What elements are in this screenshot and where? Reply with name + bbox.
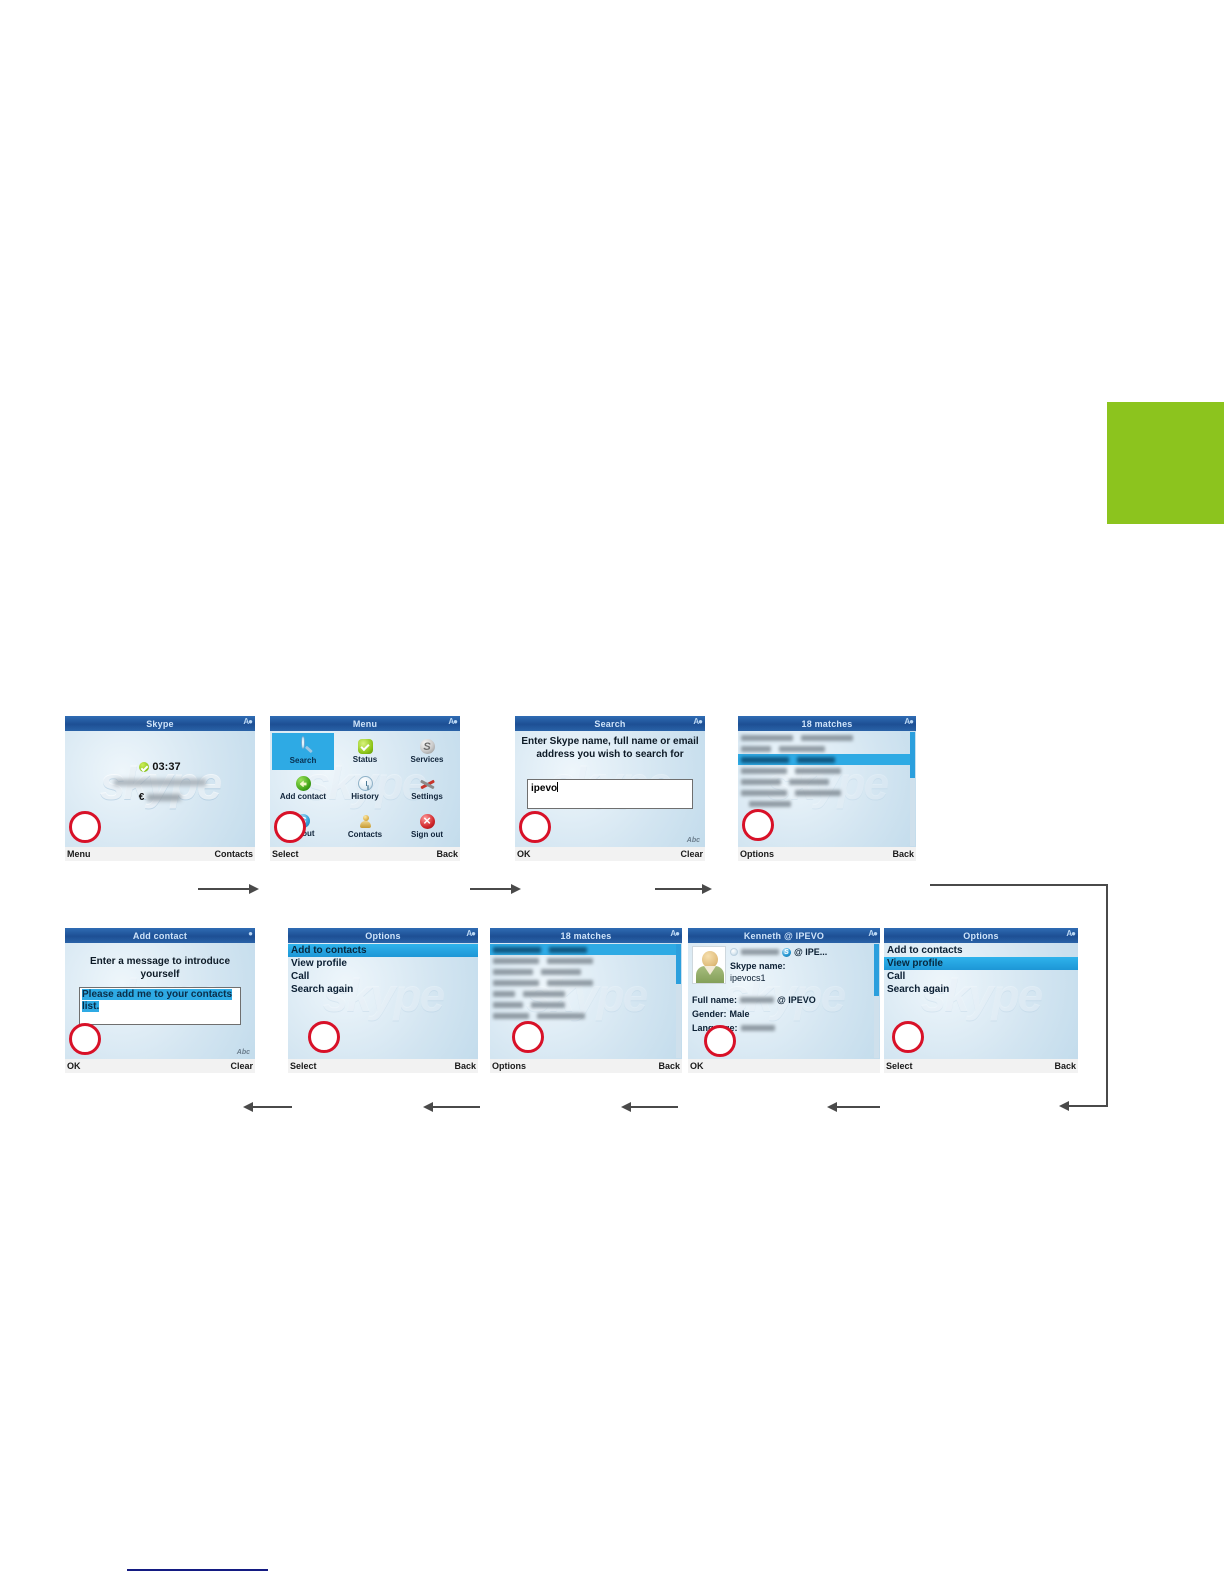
loop-connector-arrow: [1068, 1105, 1108, 1107]
screen-search: Search A● skype Enter Skype name, full n…: [515, 716, 705, 861]
titlebar: Options A●: [288, 928, 478, 943]
scrollbar-thumb[interactable]: [910, 732, 915, 778]
username-redacted: [114, 779, 206, 786]
list-item[interactable]: [490, 977, 676, 988]
list-item[interactable]: [738, 765, 910, 776]
language-redacted: [741, 1025, 775, 1031]
annotation-marker-1: [69, 811, 101, 843]
softkey-right-back[interactable]: Back: [436, 849, 458, 859]
list-item[interactable]: [738, 787, 910, 798]
softkey-right-clear[interactable]: Clear: [230, 1061, 253, 1071]
search-input[interactable]: ipevo: [527, 779, 693, 809]
titlebar: Add contact ●: [65, 928, 255, 943]
softkey-bar: OK Clear: [65, 1059, 255, 1073]
scrollbar-thumb[interactable]: [676, 944, 681, 984]
softkey-bar: OK Clear: [515, 847, 705, 861]
softkey-left-ok[interactable]: OK: [67, 1061, 81, 1071]
gender-value: Male: [730, 1009, 750, 1019]
add-contact-prompt: Enter a message to introduce yourself: [71, 955, 249, 981]
softkey-left-ok[interactable]: OK: [690, 1061, 704, 1071]
option-label: Call: [291, 971, 309, 982]
annotation-marker-8: [69, 1023, 101, 1055]
flow-arrow-forward-2: [470, 888, 512, 890]
annotation-marker-2: [274, 811, 306, 843]
services-icon: S: [420, 739, 435, 754]
screen-body: skype 03:37 €: [65, 731, 255, 847]
softkey-bar: Select Back: [884, 1059, 1078, 1073]
screen-body: skype Enter a message to introduce yours…: [65, 943, 255, 1059]
softkey-left-ok[interactable]: OK: [517, 849, 531, 859]
screen-options-view: Options A● skype Add to contacts View pr…: [884, 928, 1078, 1073]
option-view-profile[interactable]: View profile: [288, 957, 478, 970]
menu-item-status[interactable]: Status: [334, 733, 396, 770]
screen-matches-2: 18 matches A● skype Options Back: [490, 928, 682, 1073]
message-input[interactable]: Please add me to your contacts list.: [79, 987, 241, 1025]
screen-title: Kenneth @ IPEVO: [744, 931, 824, 941]
option-label: Add to contacts: [887, 945, 963, 956]
home-status-block: 03:37 €: [65, 761, 255, 803]
display-name-redacted: [741, 949, 779, 955]
profile-display-name-row: S @ IPE...: [730, 947, 876, 957]
annotation-marker-9: [892, 1021, 924, 1053]
screen-title: Search: [594, 719, 625, 729]
screen-body: skype Add to contacts View profile Call …: [884, 943, 1078, 1059]
footnote-separator: [127, 1569, 268, 1571]
search-input-value: ipevo: [531, 783, 557, 794]
loop-connector-top: [930, 884, 1108, 886]
softkey-right-back[interactable]: Back: [658, 1061, 680, 1071]
screen-body: skype Search Status S Services Add conta…: [270, 731, 460, 847]
gender-label: Gender:: [692, 1009, 727, 1019]
list-item[interactable]: [490, 966, 676, 977]
softkey-right-clear[interactable]: Clear: [680, 849, 703, 859]
menu-item-contacts[interactable]: Contacts: [334, 808, 396, 845]
option-label: Search again: [291, 984, 353, 995]
loop-connector-right: [1106, 884, 1108, 1106]
contacts-icon: [358, 814, 373, 829]
sign-out-icon: [420, 814, 435, 829]
titlebar: Search A●: [515, 716, 705, 731]
menu-item-add-contact[interactable]: Add contact: [272, 770, 334, 807]
status-icon: [358, 739, 373, 754]
flow-arrow-forward-3: [655, 888, 703, 890]
softkey-right-back[interactable]: Back: [454, 1061, 476, 1071]
credit-amount-redacted: [147, 794, 181, 801]
display-name-suffix: @ IPE...: [794, 947, 827, 957]
menu-item-search[interactable]: Search: [272, 733, 334, 770]
screen-body: skype: [490, 943, 682, 1059]
add-contact-icon: [296, 776, 311, 791]
options-list[interactable]: Add to contacts View profile Call Search…: [288, 944, 478, 996]
font-size-icon: A●: [243, 717, 252, 726]
menu-item-history[interactable]: History: [334, 770, 396, 807]
list-item[interactable]: [738, 798, 910, 809]
scrollbar-thumb[interactable]: [874, 944, 879, 996]
status-row: 03:37: [139, 761, 180, 773]
menu-item-settings[interactable]: Settings: [396, 770, 458, 807]
annotation-marker-5: [704, 1025, 736, 1057]
list-item[interactable]: [490, 988, 676, 999]
page-accent-block: [1107, 402, 1224, 524]
option-call[interactable]: Call: [288, 970, 478, 983]
list-item[interactable]: [738, 776, 910, 787]
font-size-icon: A●: [448, 717, 457, 726]
annotation-marker-3: [519, 811, 551, 843]
screen-add-contact-message: Add contact ● skype Enter a message to i…: [65, 928, 255, 1073]
menu-item-label: Services: [411, 755, 444, 764]
softkey-left-options[interactable]: Options: [740, 849, 774, 859]
menu-item-sign-out[interactable]: Sign out: [396, 808, 458, 845]
menu-item-label: History: [351, 792, 379, 801]
text-caret: [557, 782, 558, 792]
list-item[interactable]: [738, 732, 910, 743]
option-search-again[interactable]: Search again: [884, 983, 1078, 996]
screen-matches-1: 18 matches A● skype Options Back: [738, 716, 916, 861]
message-input-value: Please add me to your contacts list.: [82, 989, 232, 1012]
font-size-icon: A●: [466, 929, 475, 938]
options-list[interactable]: Add to contacts View profile Call Search…: [884, 944, 1078, 996]
history-icon: [358, 776, 373, 791]
option-add-to-contacts[interactable]: Add to contacts: [884, 944, 1078, 957]
flow-arrow-back-4: [836, 1106, 880, 1108]
font-size-icon: A●: [670, 929, 679, 938]
option-call[interactable]: Call: [884, 970, 1078, 983]
softkey-right-back[interactable]: Back: [892, 849, 914, 859]
screen-home: Skype A● skype 03:37 € Menu Contacts: [65, 716, 255, 861]
flow-arrow-back-2: [432, 1106, 480, 1108]
list-item-selected[interactable]: [738, 754, 910, 765]
menu-item-label: Add contact: [280, 792, 326, 801]
titlebar: Skype A●: [65, 716, 255, 731]
screen-body: skype Add to contacts View profile Call …: [288, 943, 478, 1059]
annotation-marker-4: [742, 809, 774, 841]
screen-title: Add contact: [133, 931, 187, 941]
screen-body: skype Enter Skype name, full name or ema…: [515, 731, 705, 847]
font-size-icon: A●: [693, 717, 702, 726]
softkey-left-select[interactable]: Select: [886, 1061, 913, 1071]
softkey-left-options[interactable]: Options: [492, 1061, 526, 1071]
softkey-bar: OK: [688, 1059, 880, 1073]
status-time: 03:37: [152, 761, 180, 773]
softkey-bar: Options Back: [490, 1059, 682, 1073]
option-label: Call: [887, 971, 905, 982]
input-mode-hint: Abc: [237, 1049, 250, 1056]
full-name-suffix: @ IPEVO: [777, 995, 816, 1005]
list-item[interactable]: [738, 743, 910, 754]
skype-logo-icon: S: [782, 948, 791, 957]
font-size-icon: A●: [904, 717, 913, 726]
option-label: Search again: [887, 984, 949, 995]
list-item[interactable]: [490, 1010, 676, 1021]
input-mode-hint: Abc: [687, 837, 700, 844]
screen-title: 18 matches: [560, 931, 611, 941]
screen-options-add: Options A● skype Add to contacts View pr…: [288, 928, 478, 1073]
annotation-marker-7: [308, 1021, 340, 1053]
screen-title: Options: [365, 931, 400, 941]
credit-row: €: [65, 792, 255, 803]
screen-body: skype S @ IPE... Skype name: ipevocs1 Fu…: [688, 943, 880, 1059]
softkey-left-select[interactable]: Select: [290, 1061, 317, 1071]
titlebar: 18 matches A●: [490, 928, 682, 943]
font-size-icon: A●: [1066, 929, 1075, 938]
option-label: Add to contacts: [291, 945, 367, 956]
softkey-bar: Options Back: [738, 847, 916, 861]
menu-item-label: Search: [290, 756, 317, 765]
font-size-icon: A●: [868, 929, 877, 938]
screen-title: Skype: [146, 719, 174, 729]
credit-currency: €: [139, 792, 145, 803]
softkey-right-back[interactable]: Back: [1054, 1061, 1076, 1071]
screen-profile: Kenneth @ IPEVO A● skype S @ IPE... Skyp…: [688, 928, 880, 1073]
screen-title: Menu: [353, 719, 377, 729]
menu-item-label: Status: [353, 755, 377, 764]
mini-avatar-icon: [730, 948, 738, 956]
option-label: View profile: [887, 958, 943, 969]
search-prompt: Enter Skype name, full name or email add…: [519, 735, 701, 761]
menu-item-label: Settings: [411, 792, 443, 801]
annotation-marker-6: [512, 1021, 544, 1053]
titlebar: Options A●: [884, 928, 1078, 943]
screen-body: skype: [738, 731, 916, 847]
menu-item-label: Contacts: [348, 830, 382, 839]
screen-title: Options: [963, 931, 998, 941]
user-avatar-icon: [692, 946, 726, 984]
softkey-bar: Select Back: [270, 847, 460, 861]
skype-name-value: ipevocs1: [730, 973, 876, 983]
list-item[interactable]: [490, 999, 676, 1010]
flow-arrow-forward-1: [198, 888, 250, 890]
softkey-left-menu[interactable]: Menu: [67, 849, 91, 859]
menu-item-services[interactable]: S Services: [396, 733, 458, 770]
option-label: View profile: [291, 958, 347, 969]
skype-name-label: Skype name:: [730, 961, 876, 971]
option-add-to-contacts[interactable]: Add to contacts: [288, 944, 478, 957]
full-name-row: Full name: @ IPEVO: [692, 995, 876, 1005]
softkey-bar: Menu Contacts: [65, 847, 255, 861]
list-item-selected[interactable]: [490, 944, 676, 955]
gender-row: Gender: Male: [692, 1009, 876, 1019]
list-item[interactable]: [490, 955, 676, 966]
flow-arrow-back-3: [630, 1106, 678, 1108]
option-search-again[interactable]: Search again: [288, 983, 478, 996]
softkey-bar: Select Back: [288, 1059, 478, 1073]
font-size-icon: ●: [248, 929, 252, 938]
titlebar: Kenneth @ IPEVO A●: [688, 928, 880, 943]
search-icon: [295, 738, 312, 755]
option-view-profile[interactable]: View profile: [884, 957, 1078, 970]
settings-icon: [419, 776, 436, 791]
flow-arrow-back-1: [252, 1106, 292, 1108]
softkey-left-select[interactable]: Select: [272, 849, 299, 859]
softkey-right-contacts[interactable]: Contacts: [214, 849, 253, 859]
menu-item-label: Sign out: [411, 830, 443, 839]
full-name-redacted: [740, 997, 774, 1003]
titlebar: Menu A●: [270, 716, 460, 731]
titlebar: 18 matches A●: [738, 716, 916, 731]
online-check-icon: [139, 762, 149, 772]
screen-menu: Menu A● skype Search Status S Services A…: [270, 716, 460, 861]
screen-title: 18 matches: [801, 719, 852, 729]
full-name-label: Full name:: [692, 995, 737, 1005]
